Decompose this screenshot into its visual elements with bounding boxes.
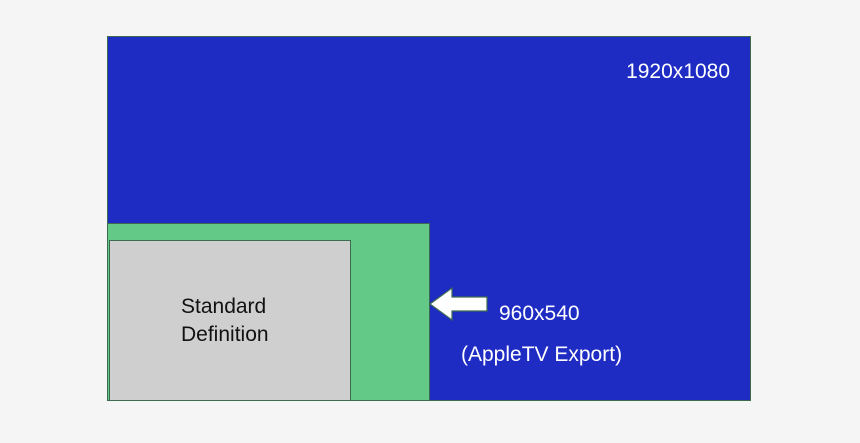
appletv-export-sublabel: (AppleTV Export) (461, 334, 622, 375)
arrow-left-icon (429, 285, 489, 323)
standard-definition-label-line-1: Standard (181, 293, 269, 321)
hd-resolution-label: 1920x1080 (626, 60, 730, 84)
standard-definition-label-line-2: Definition (181, 321, 269, 349)
appletv-export-callout: 960x540 (AppleTV Export) (499, 293, 622, 375)
resolution-comparison-diagram: 1920x1080 Standard Definition 960x540 (A… (0, 0, 860, 443)
standard-definition-label: Standard Definition (181, 293, 269, 349)
standard-definition-box: Standard Definition (109, 240, 351, 401)
appletv-export-resolution-label: 960x540 (499, 293, 622, 334)
